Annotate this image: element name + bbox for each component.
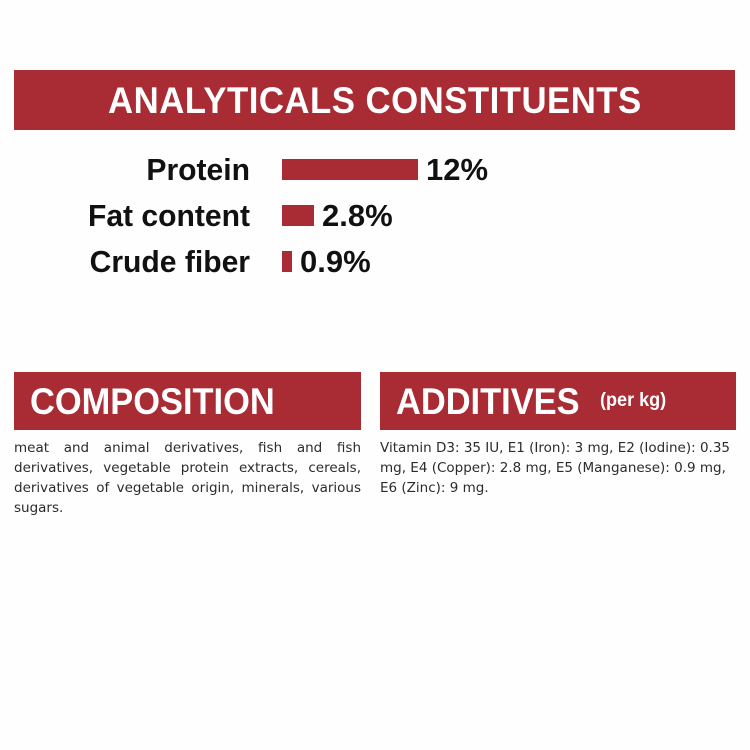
constituent-label: Crude fiber (8, 246, 251, 277)
composition-header-band: COMPOSITION (14, 372, 361, 430)
constituent-row-fat-content: Fat content 2.8% (0, 192, 560, 238)
constituent-bar (282, 205, 314, 226)
detail-sections: COMPOSITION meat and animal derivatives,… (0, 372, 750, 518)
constituents-chart: Protein 12% Fat content 2.8% Crude fiber… (0, 146, 560, 284)
additives-title: ADDITIVES (396, 383, 580, 420)
constituent-bar (282, 159, 418, 180)
constituent-bar-group: 0.9% (282, 246, 371, 277)
constituent-bar (282, 251, 292, 272)
constituent-label: Protein (8, 154, 251, 185)
additives-section: ADDITIVES (per kg) Vitamin D3: 35 IU, E1… (375, 372, 750, 518)
constituent-value: 2.8% (322, 200, 393, 231)
constituent-row-protein: Protein 12% (0, 146, 560, 192)
constituent-bar-group: 2.8% (282, 200, 393, 231)
additives-subtitle: (per kg) (600, 391, 666, 410)
constituent-value: 12% (426, 154, 488, 185)
composition-body-text: meat and animal derivatives, fish and fi… (14, 439, 361, 518)
constituent-row-crude-fiber: Crude fiber 0.9% (0, 238, 560, 284)
nutrition-panel: ANALYTICALS CONSTITUENTS Protein 12% Fat… (0, 0, 750, 750)
additives-header-band: ADDITIVES (per kg) (380, 372, 736, 430)
footer-strip (0, 660, 750, 750)
additives-body-text: Vitamin D3: 35 IU, E1 (Iron): 3 mg, E2 (… (380, 439, 736, 499)
composition-section: COMPOSITION meat and animal derivatives,… (0, 372, 375, 518)
analyticals-constituents-banner: ANALYTICALS CONSTITUENTS (14, 70, 735, 130)
constituent-value: 0.9% (300, 246, 371, 277)
constituent-label: Fat content (8, 200, 251, 231)
page-title: ANALYTICALS CONSTITUENTS (108, 82, 642, 119)
constituent-bar-group: 12% (282, 154, 488, 185)
composition-title: COMPOSITION (30, 383, 275, 420)
